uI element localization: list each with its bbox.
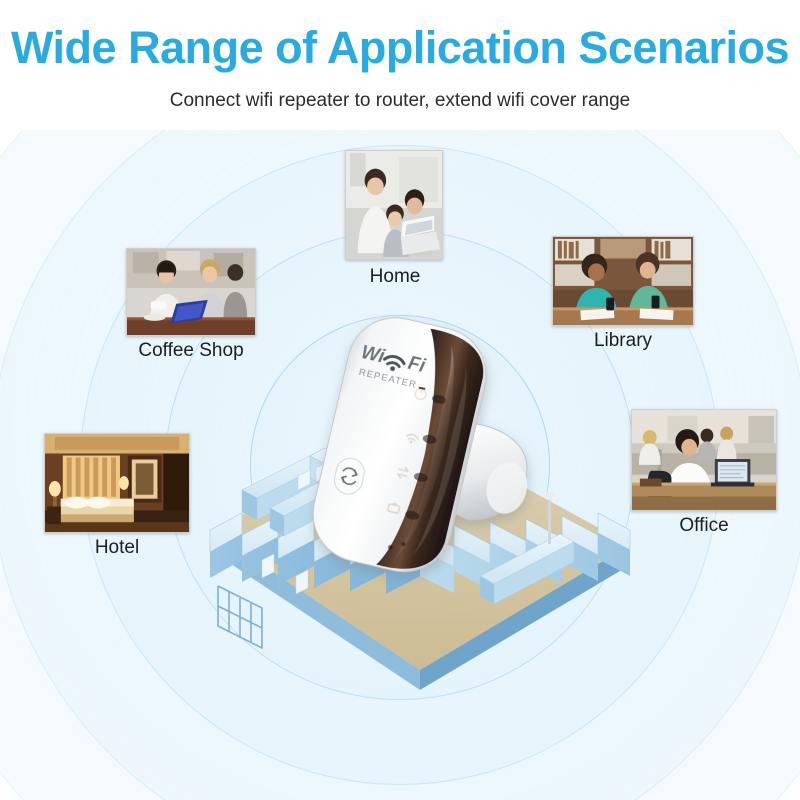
- scenario-label-coffee-shop: Coffee Shop: [86, 340, 296, 362]
- device-svg: Wi Fi REPEATER: [278, 296, 568, 596]
- coffee-shop-photo: [127, 249, 255, 335]
- scenario-label-office: Office: [628, 515, 780, 537]
- library-photo: [553, 237, 693, 325]
- scenario-infographic: Wide Range of Application Scenarios Conn…: [0, 0, 800, 800]
- wifi-repeater-device: Wi Fi REPEATER: [278, 296, 568, 596]
- scenario-thumb-hotel[interactable]: [44, 433, 190, 533]
- home-photo: [346, 151, 442, 259]
- hotel-photo: [45, 434, 189, 532]
- scenario-thumb-office[interactable]: [631, 409, 777, 511]
- page-title: Wide Range of Application Scenarios: [0, 24, 800, 71]
- office-photo: [632, 410, 776, 510]
- scenario-label-hotel: Hotel: [42, 537, 192, 559]
- scenario-thumb-coffee-shop[interactable]: [126, 248, 256, 336]
- scenario-label-library: Library: [530, 330, 716, 352]
- scenario-thumb-home[interactable]: [345, 150, 443, 260]
- page-subtitle: Connect wifi repeater to router, extend …: [0, 90, 800, 112]
- scenario-thumb-library[interactable]: [552, 236, 694, 326]
- scenario-label-home: Home: [310, 266, 480, 288]
